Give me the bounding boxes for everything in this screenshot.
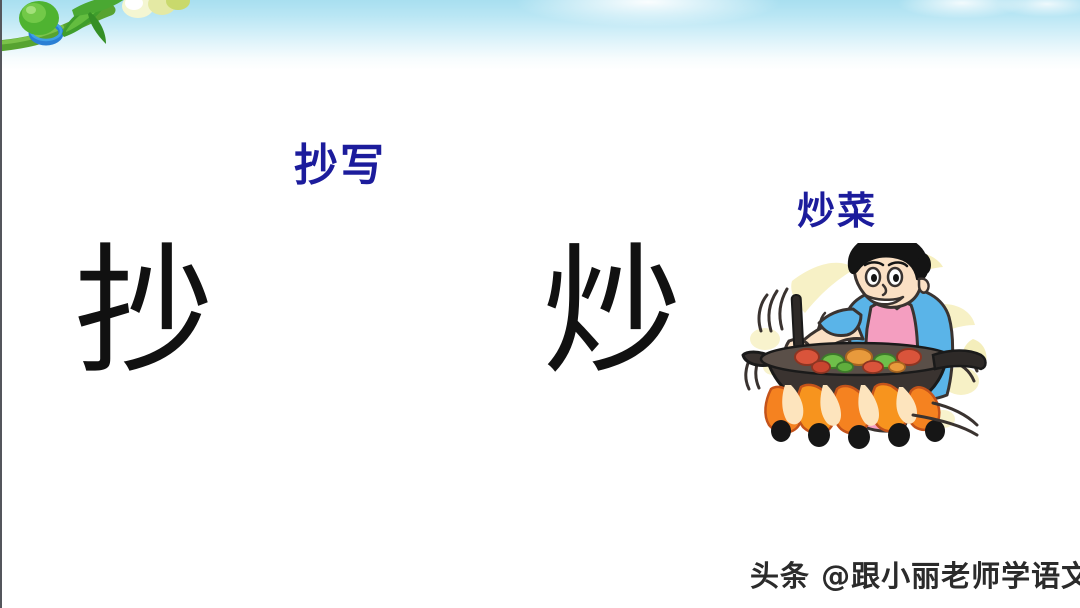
cooking-flames	[765, 384, 939, 433]
motion-lines-left	[759, 289, 787, 331]
decorative-header-banner	[2, 0, 1080, 70]
big-character-chao-fry: 炒	[542, 243, 682, 383]
channel-watermark: 头条 @跟小丽老师学语文	[750, 553, 1080, 595]
bamboo-leaf-decoration-icon	[2, 0, 252, 60]
cook-ear	[919, 279, 929, 293]
cook-pupil-left	[871, 274, 877, 282]
slide-canvas: 抄写 抄 炒菜 炒	[0, 0, 1080, 608]
vocabulary-label-chaoxie: 抄写	[294, 129, 386, 193]
vocabulary-label-chaocai: 炒菜	[797, 180, 877, 235]
stir-fry-cooking-illustration	[737, 243, 992, 458]
wok-handle	[933, 351, 986, 370]
cook-pupil-right	[893, 274, 899, 282]
big-character-chao-copy: 抄	[74, 243, 214, 383]
